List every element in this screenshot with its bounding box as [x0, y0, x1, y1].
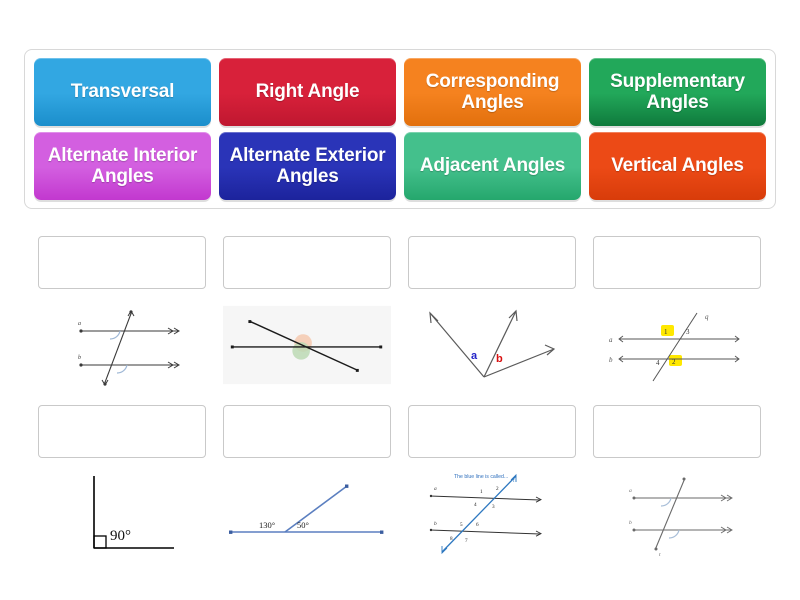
tile-label: Transversal [71, 81, 174, 102]
figure-label-4: 4 [474, 502, 477, 508]
answer-slot-8: a b t [593, 405, 761, 560]
figure-two-intersecting-lines-vertical-angles [223, 299, 391, 391]
figure-label-a: a [629, 488, 632, 494]
figure-label-a: a [78, 321, 81, 327]
tile-alternate-interior-angles[interactable]: Alternate Interior Angles [34, 132, 211, 200]
figure-label-t: t [659, 552, 661, 558]
dropzone-2[interactable] [223, 236, 391, 289]
figure-label-q: q [705, 313, 709, 321]
answer-slot-7: The blue line is called... 1 2 [408, 405, 576, 560]
figure-parallel-lines-transversal-arcs-2: a b t [593, 468, 761, 560]
figure-label-b: b [78, 355, 81, 361]
answer-slot-1: a b [38, 236, 206, 391]
figure-transversal-eight-numbered-angles: The blue line is called... 1 2 [408, 468, 576, 560]
figure-label-a: a [434, 486, 437, 492]
figure-label-5: 5 [460, 522, 463, 528]
figure-label-7: 7 [465, 538, 468, 544]
dropzone-1[interactable] [38, 236, 206, 289]
figure-label-2: 2 [496, 486, 499, 492]
tile-label: Supplementary Angles [595, 71, 760, 114]
answer-slot-5: 90° [38, 405, 206, 560]
figure-label-6: 6 [476, 522, 479, 528]
tile-label: Alternate Exterior Angles [225, 145, 390, 188]
tile-corresponding-angles[interactable]: Corresponding Angles [404, 58, 581, 126]
figure-right-angle-90-degrees: 90° [38, 468, 206, 560]
figure-label-90-degrees: 90° [110, 528, 131, 544]
figure-linear-pair-130-50: 130° 50° [223, 468, 391, 560]
figure-label-1: 1 [480, 489, 483, 495]
tile-label: Vertical Angles [611, 155, 744, 176]
answer-slot-3: a b [408, 236, 576, 391]
tile-right-angle[interactable]: Right Angle [219, 58, 396, 126]
answer-slot-6: 130° 50° [223, 405, 391, 560]
dropzone-7[interactable] [408, 405, 576, 458]
figure-label-b: b [609, 356, 613, 364]
figure-label-t: t [513, 478, 515, 484]
figure-label-4: 4 [656, 359, 660, 367]
figure-label-a: a [609, 336, 613, 344]
figure-parallel-lines-transversal-arcs-1: a b [38, 299, 206, 391]
dropzone-4[interactable] [593, 236, 761, 289]
tile-label: Corresponding Angles [410, 71, 575, 114]
figure-three-rays-adjacent-angles: a b [408, 299, 576, 391]
word-bank: Transversal Right Angle Corresponding An… [24, 49, 776, 209]
figure-label-a: a [471, 350, 478, 362]
tile-label: Adjacent Angles [420, 155, 565, 176]
figure-label-1: 1 [664, 328, 668, 336]
figure-label-b: b [434, 521, 437, 527]
figure-label-2: 2 [672, 358, 676, 366]
figure-label-b: b [496, 353, 503, 365]
figure-label-8: 8 [450, 536, 453, 542]
tile-transversal[interactable]: Transversal [34, 58, 211, 126]
tile-alternate-exterior-angles[interactable]: Alternate Exterior Angles [219, 132, 396, 200]
tile-supplementary-angles[interactable]: Supplementary Angles [589, 58, 766, 126]
dropzone-6[interactable] [223, 405, 391, 458]
tile-adjacent-angles[interactable]: Adjacent Angles [404, 132, 581, 200]
answer-slot-4: a b q 1 3 4 2 [593, 236, 761, 391]
figure-label-3: 3 [492, 504, 495, 510]
tile-vertical-angles[interactable]: Vertical Angles [589, 132, 766, 200]
tile-label: Right Angle [256, 81, 360, 102]
figure-caption: The blue line is called... [454, 474, 508, 480]
tile-label: Alternate Interior Angles [40, 145, 205, 188]
figure-label-3: 3 [686, 328, 690, 336]
dropzone-3[interactable] [408, 236, 576, 289]
answer-slot-2 [223, 236, 391, 391]
figure-label-b: b [629, 520, 632, 526]
dropzone-5[interactable] [38, 405, 206, 458]
word-bank-row-2: Alternate Interior Angles Alternate Exte… [34, 132, 766, 200]
figure-label-50-degrees: 50° [297, 520, 309, 530]
word-bank-row-1: Transversal Right Angle Corresponding An… [34, 58, 766, 126]
dropzone-8[interactable] [593, 405, 761, 458]
figure-parallel-lines-numbered-highlighted-angles: a b q 1 3 4 2 [593, 299, 761, 391]
figure-label-130-degrees: 130° [259, 520, 275, 530]
